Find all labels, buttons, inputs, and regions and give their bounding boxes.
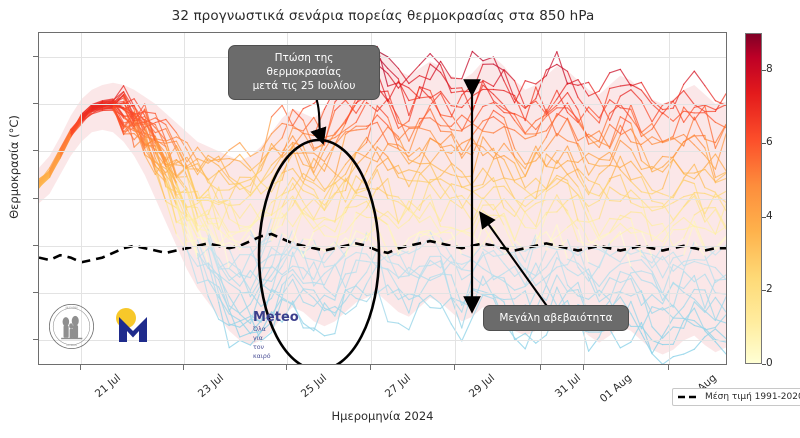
colorbar-tick-label: 8 [766, 63, 773, 75]
meteo-logo: Meteo Όλα για τον καιρό [103, 306, 201, 348]
legend: Μέση τιμή 1991-2020 [672, 388, 800, 406]
colorbar-tick-mark [762, 70, 766, 71]
x-axis-label: Ημερομηνία 2024 [38, 409, 727, 423]
x-tick-label: 01 Aug [598, 372, 634, 405]
colorbar-tick-label: 6 [766, 136, 773, 148]
legend-dash-swatch [678, 393, 700, 401]
colorbar-gradient [745, 33, 762, 364]
x-tick-label: 23 Jul [196, 372, 226, 400]
x-tick-mark [286, 365, 287, 370]
colorbar [745, 33, 762, 364]
colorbar-tick-mark [762, 290, 766, 291]
legend-label-mean: Μέση τιμή 1991-2020 [705, 392, 800, 402]
svg-text:ΑΘΗΝΩΝ: ΑΘΗΝΩΝ [66, 344, 77, 347]
x-tick-mark [80, 365, 81, 370]
x-tick-mark [583, 365, 584, 370]
y-axis-label: Θερμοκρασία (°C) [7, 77, 21, 257]
x-tick-label: 31 Jul [553, 372, 583, 400]
colorbar-tick-label: 0 [766, 357, 773, 369]
x-tick-mark [454, 365, 455, 370]
x-tick-mark [370, 365, 371, 370]
x-tick-mark [668, 365, 669, 370]
x-tick-label: 25 Jul [299, 372, 329, 400]
colorbar-tick-mark [762, 143, 766, 144]
meteo-wordmark: Meteo [253, 310, 299, 325]
x-tick-mark [540, 365, 541, 370]
colorbar-tick-label: 2 [766, 283, 773, 295]
colorbar-tick-label: 4 [766, 210, 773, 222]
x-tick-label: 21 Jul [93, 372, 123, 400]
x-tick-mark [183, 365, 184, 370]
x-tick-label: 29 Jul [467, 372, 497, 400]
colorbar-tick-mark [762, 364, 766, 365]
colorbar-tick-mark [762, 217, 766, 218]
chart-screenshot: 32 προγνωστικά σενάρια πορείας θερμοκρασ… [0, 0, 800, 438]
x-tick-label: 27 Jul [383, 372, 413, 400]
svg-text:ΑΚΑΔΗΜΙΑ: ΑΚΑΔΗΜΙΑ [65, 307, 78, 310]
meteo-mark-icon [103, 306, 253, 348]
annotation-temperature-drop: Πτώση της θερμοκρασίας μετά τις 25 Ιουλί… [228, 45, 380, 100]
annotation-high-uncertainty: Μεγάλη αβεβαιότητα [483, 305, 629, 331]
academy-of-athens-seal-icon: ΑΚΑΔΗΜΙΑ ΑΘΗΝΩΝ [48, 303, 95, 350]
meteo-tagline: Όλα για τον καιρό [253, 326, 271, 362]
page-title: 32 προγνωστικά σενάρια πορείας θερμοκρασ… [38, 8, 728, 24]
